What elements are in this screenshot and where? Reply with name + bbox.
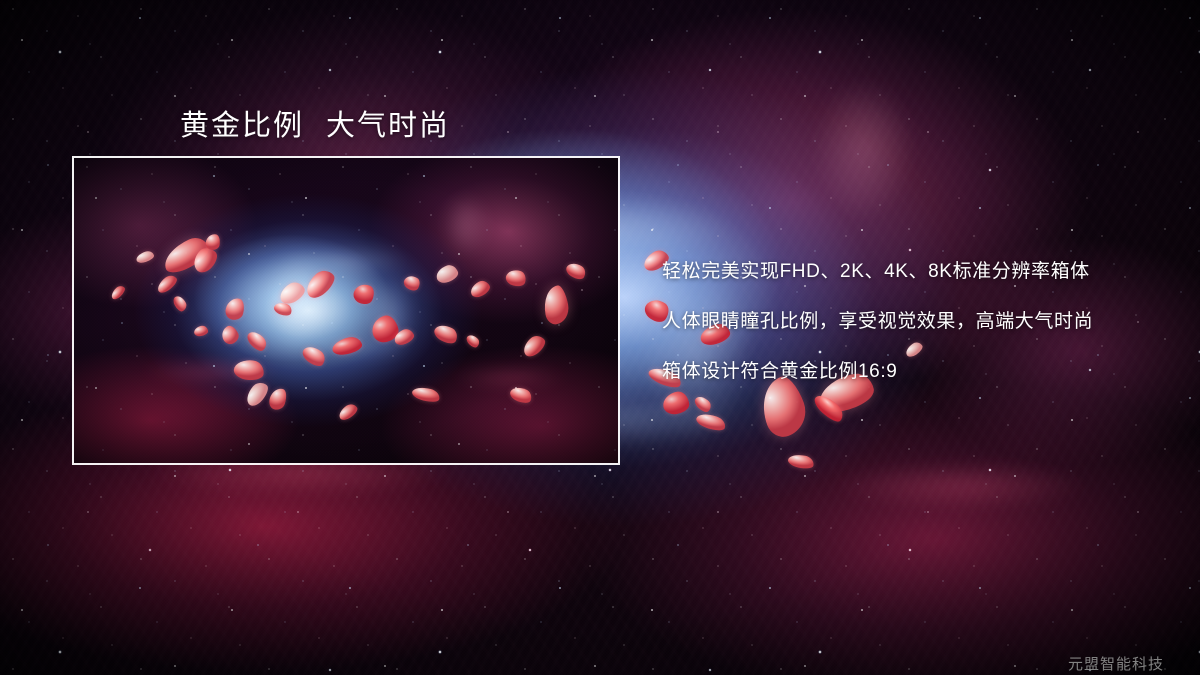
description-line-2: 人体眼睛瞳孔比例，享受视觉效果，高端大气时尚 [662, 306, 1093, 333]
frame-inner-image [74, 158, 618, 463]
headline-part-1: 黄金比例 [180, 110, 304, 142]
slide-canvas: 黄金比例大气时尚 轻松完美实现FHD、2K、4K、8K标准分辨率箱体 人体眼睛瞳… [0, 0, 1200, 675]
page-title: 黄金比例大气时尚 [180, 102, 450, 144]
nebula-photo-frame [72, 156, 620, 465]
petal [662, 390, 691, 415]
description-line-3: 箱体设计符合黄金比例16:9 [662, 356, 1093, 383]
petal [692, 393, 713, 414]
description-line-1: 轻松完美实现FHD、2K、4K、8K标准分辨率箱体 [662, 256, 1093, 283]
petal [695, 411, 728, 434]
headline-part-2: 大气时尚 [326, 110, 450, 142]
petal [787, 452, 815, 470]
feature-description: 轻松完美实现FHD、2K、4K、8K标准分辨率箱体 人体眼睛瞳孔比例，享受视觉效… [662, 256, 1093, 383]
brand-watermark: 元盟智能科技 [1068, 653, 1164, 674]
